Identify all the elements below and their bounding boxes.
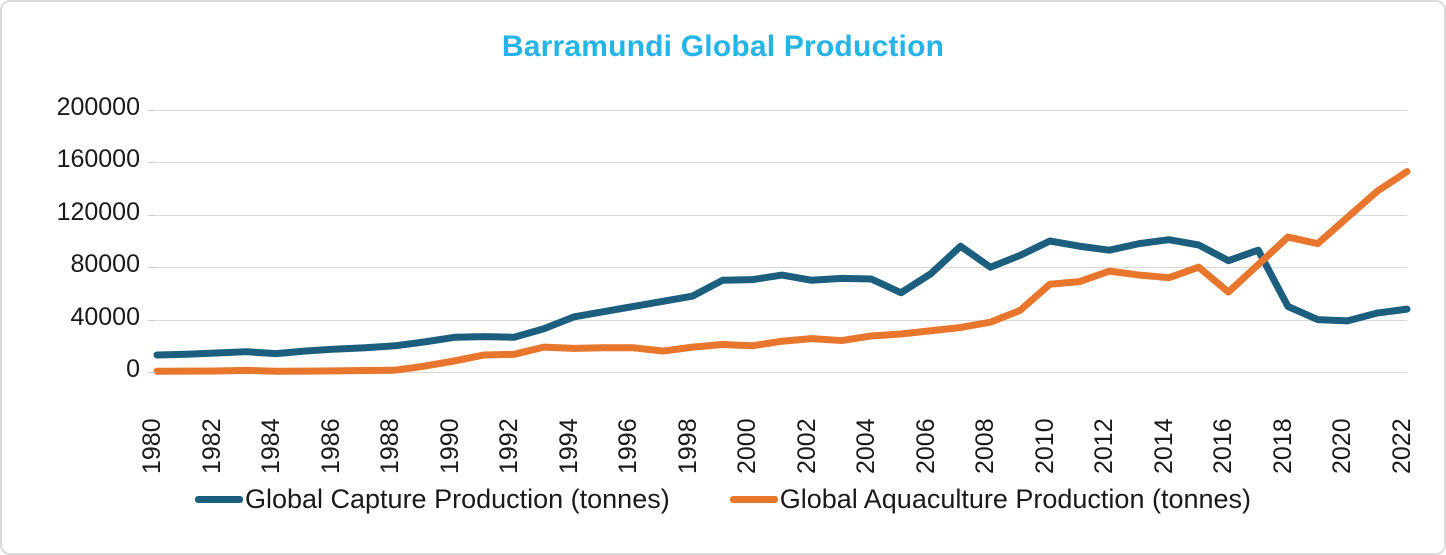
y-axis-tick-mark [148,267,156,268]
x-axis-tick-labels: 1980198219841986198819901992199419961998… [157,378,1407,474]
y-axis-tick-label: 120000 [20,198,140,227]
y-axis-tick-mark [148,320,156,321]
y-axis-tick-label: 80000 [20,250,140,279]
x-axis-tick-label: 1998 [674,418,703,474]
y-axis-tick-mark [148,162,156,163]
legend-label: Global Capture Production (tonnes) [245,484,670,515]
series-line-aquaculture [157,172,1407,372]
series-lines [157,110,1407,372]
x-axis-tick-label: 2000 [733,418,762,474]
x-axis-tick-label: 1980 [138,418,167,474]
x-axis-tick-label: 1984 [257,418,286,474]
y-axis-tick-mark [148,110,156,111]
x-axis-tick-label: 1996 [614,418,643,474]
x-axis-tick-label: 2004 [852,418,881,474]
x-axis-tick-label: 2006 [912,418,941,474]
x-axis-tick-label: 2012 [1090,418,1119,474]
x-axis-tick-label: 1994 [555,418,584,474]
y-axis-tick-label: 200000 [20,93,140,122]
series-line-capture [157,240,1407,355]
y-axis-tick-mark [148,372,156,373]
x-axis-tick-label: 2008 [971,418,1000,474]
x-axis-tick-label: 2014 [1150,418,1179,474]
x-axis-tick-label: 2002 [793,418,822,474]
legend-swatch-icon [730,496,778,503]
legend-item-aquaculture[interactable]: Global Aquaculture Production (tonnes) [730,484,1251,515]
chart-legend: Global Capture Production (tonnes)Global… [2,484,1444,515]
y-axis-tick-label: 160000 [20,145,140,174]
x-axis-tick-label: 2022 [1388,418,1417,474]
y-axis-tick-mark [148,215,156,216]
y-axis-tick-label: 40000 [20,303,140,332]
chart-card: Barramundi Global Production 04000080000… [0,0,1446,555]
chart-title: Barramundi Global Production [2,30,1444,64]
x-axis-tick-label: 2010 [1031,418,1060,474]
x-axis-tick-label: 2018 [1269,418,1298,474]
legend-item-capture[interactable]: Global Capture Production (tonnes) [195,484,670,515]
legend-swatch-icon [195,496,243,503]
x-axis-tick-label: 1986 [317,418,346,474]
x-axis-tick-label: 1982 [198,418,227,474]
x-axis-tick-label: 2020 [1328,418,1357,474]
x-axis-tick-label: 2016 [1209,418,1238,474]
y-axis-tick-label: 0 [20,355,140,384]
x-axis-tick-label: 1992 [495,418,524,474]
legend-label: Global Aquaculture Production (tonnes) [780,484,1251,515]
x-axis-tick-label: 1988 [376,418,405,474]
plot-area [157,110,1407,372]
x-axis-tick-label: 1990 [436,418,465,474]
